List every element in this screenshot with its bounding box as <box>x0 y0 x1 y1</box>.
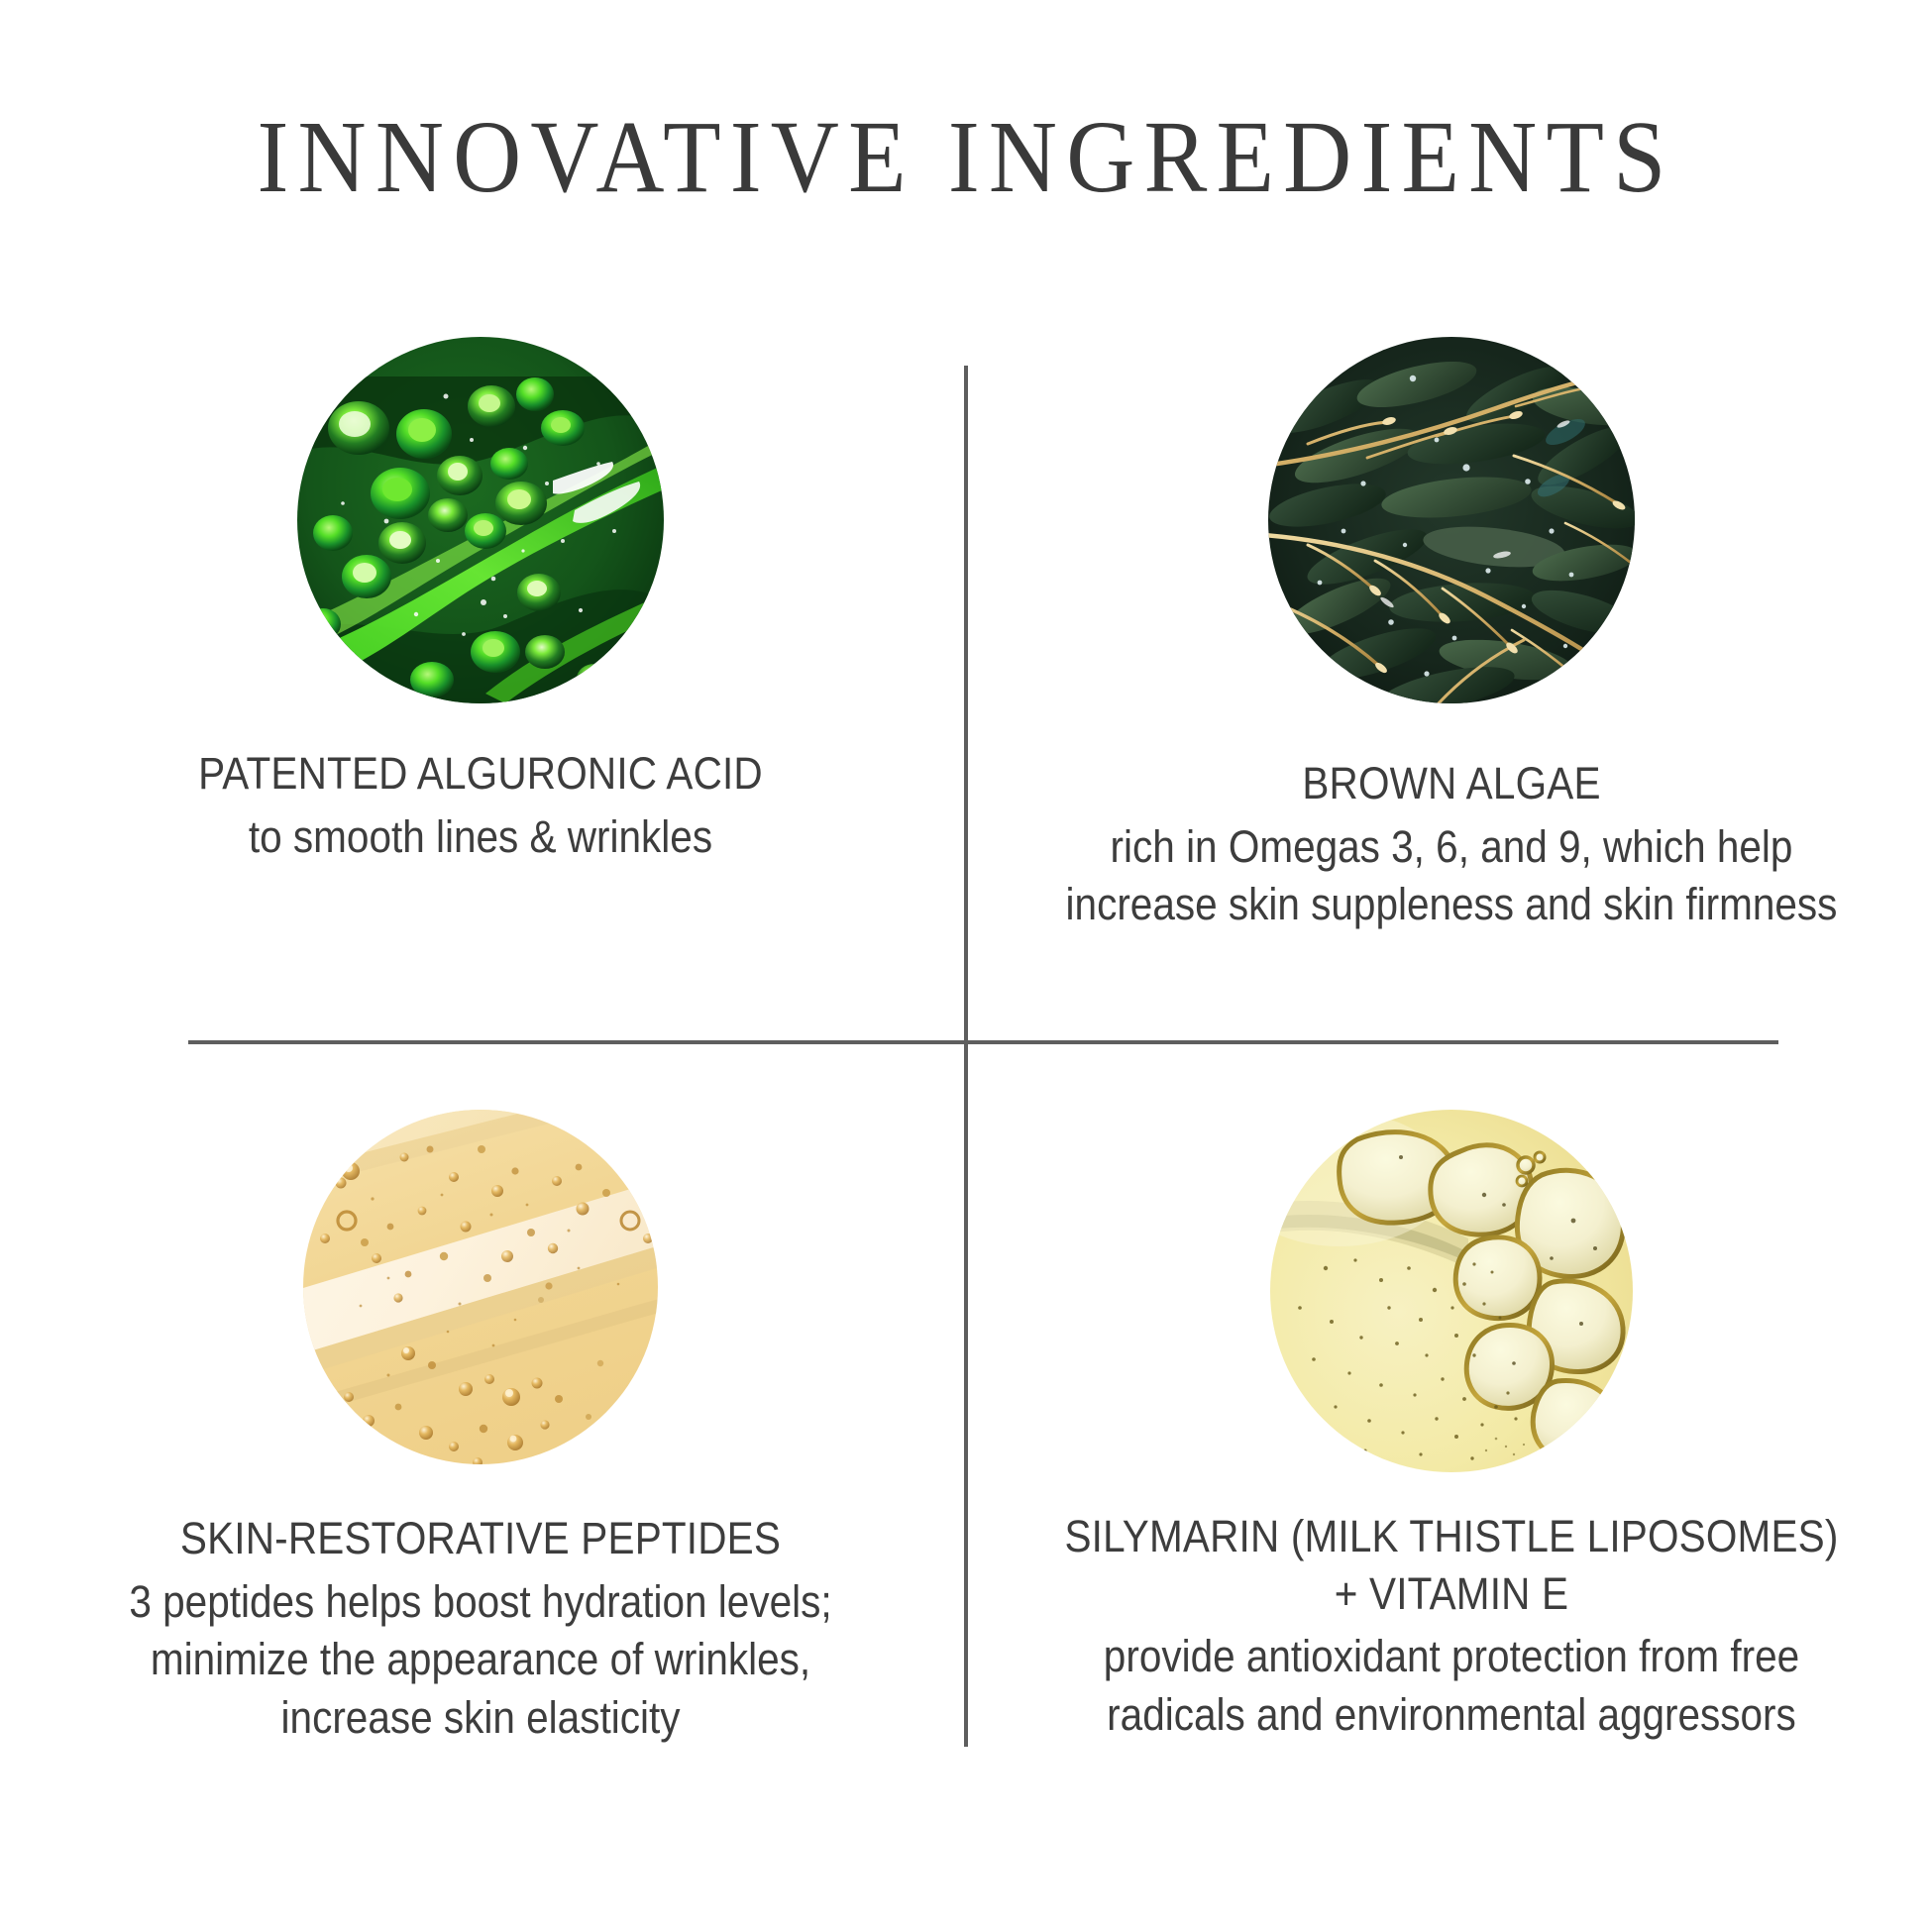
golden-serum-bubbles-circle-icon <box>303 1110 658 1464</box>
ingredient-benefit: provide antioxidant protection from free… <box>1028 1628 1876 1744</box>
ingredient-name: SILYMARIN (MILK THISTLE LIPOSOMES) + VIT… <box>1028 1508 1876 1622</box>
ingredients-infographic: INNOVATIVE INGREDIENTS <box>0 0 1932 1932</box>
ingredient-card-silymarin: SILYMARIN (MILK THISTLE LIPOSOMES) + VIT… <box>981 1110 1922 1744</box>
ingredient-name: PATENTED ALGURONIC ACID <box>57 745 905 803</box>
ingredient-card-peptides: SKIN-RESTORATIVE PEPTIDES 3 peptides hel… <box>10 1110 951 1747</box>
brown-algae-kelp-leaves-circle-icon <box>1268 337 1635 703</box>
ingredient-name: BROWN ALGAE <box>1028 755 1876 812</box>
ingredient-benefit: rich in Omegas 3, 6, and 9, which help i… <box>1028 818 1876 934</box>
ingredient-benefit: to smooth lines & wrinkles <box>57 808 905 867</box>
ingredient-benefit: 3 peptides helps boost hydration levels;… <box>57 1573 905 1748</box>
horizontal-divider <box>188 1040 1778 1044</box>
ingredient-card-brown-algae: BROWN ALGAE rich in Omegas 3, 6, and 9, … <box>981 337 1922 934</box>
green-algae-fluid-texture-circle-icon <box>297 337 664 703</box>
page-title: INNOVATIVE INGREDIENTS <box>77 103 1855 211</box>
ingredient-card-alguronic-acid: PATENTED ALGURONIC ACID to smooth lines … <box>10 337 951 866</box>
ingredient-name: SKIN-RESTORATIVE PEPTIDES <box>57 1510 905 1567</box>
vertical-divider <box>964 366 968 1747</box>
yellow-oil-bubbles-circle-icon <box>1270 1110 1633 1472</box>
